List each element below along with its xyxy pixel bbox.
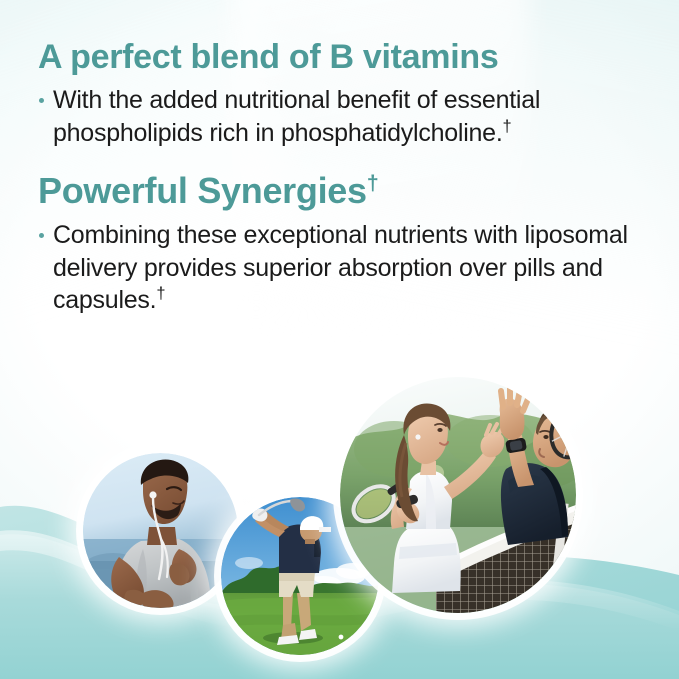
copy-block: A perfect blend of B vitamins With the a… <box>38 38 638 317</box>
runner-photo <box>83 453 238 608</box>
benefit-list-2: Combining these exceptional nutrients wi… <box>38 219 638 317</box>
bullet-text: Combining these exceptional nutrients wi… <box>53 221 628 314</box>
bullet-dot-icon <box>39 98 44 103</box>
dagger-footnote-icon: † <box>503 117 512 135</box>
section-title-text: Powerful Synergies <box>38 170 367 211</box>
section-title-synergies: Powerful Synergies† <box>38 171 638 211</box>
list-item: Combining these exceptional nutrients wi… <box>38 219 638 317</box>
dagger-footnote-icon: † <box>367 170 379 195</box>
page-title: A perfect blend of B vitamins <box>38 38 638 76</box>
tennis-photo <box>340 377 576 613</box>
list-item: With the added nutritional benefit of es… <box>38 84 638 149</box>
dagger-footnote-icon: † <box>156 285 165 303</box>
bullet-text: With the added nutritional benefit of es… <box>53 86 540 147</box>
bullet-dot-icon <box>39 233 44 238</box>
benefit-list-1: With the added nutritional benefit of es… <box>38 84 638 149</box>
product-feature-image: A perfect blend of B vitamins With the a… <box>0 0 679 679</box>
